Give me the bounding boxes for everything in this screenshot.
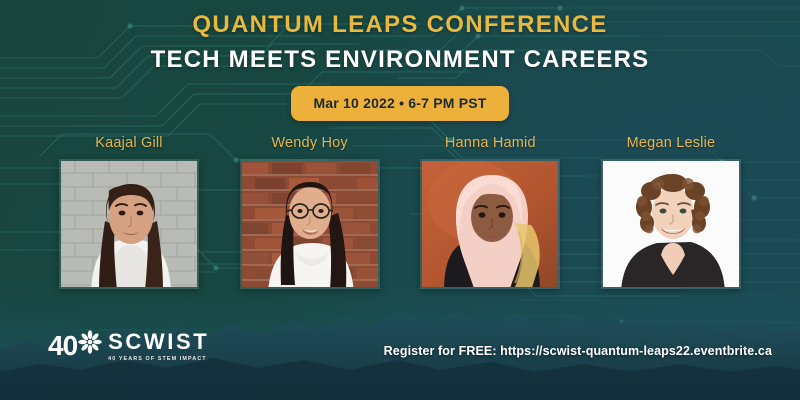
speaker-card: Kaajal Gill [50,136,208,289]
speaker-photo-megan-leslie [601,159,741,289]
flower-icon [78,330,102,354]
speaker-photo-hanna-hamid [420,159,560,289]
speaker-name: Wendy Hoy [231,136,389,151]
date-badge-row: Mar 10 2022 • 6-7 PM PST [0,86,800,121]
event-date-badge: Mar 10 2022 • 6-7 PM PST [291,86,508,121]
speaker-name: Megan Leslie [592,136,750,151]
register-label: Register for FREE: [384,344,497,358]
logo-tagline: 40 YEARS OF STEM IMPACT [108,356,209,362]
speaker-card: Wendy Hoy [231,136,389,289]
logo-anniversary-number: 40 [48,332,77,360]
speaker-card: Hanna Hamid [411,136,569,289]
speaker-card: Megan Leslie [592,136,750,289]
logo-wordmark: SCWIST 40 YEARS OF STEM IMPACT [108,331,209,362]
speaker-name: Hanna Hamid [411,136,569,151]
conference-poster: QUANTUM LEAPS CONFERENCE TECH MEETS ENVI… [0,0,800,400]
speaker-list: Kaajal Gill [50,136,750,289]
logo-name: SCWIST [108,331,209,353]
poster-heading-block: QUANTUM LEAPS CONFERENCE TECH MEETS ENVI… [0,0,800,121]
register-url[interactable]: https://scwist-quantum-leaps22.eventbrit… [500,344,772,358]
speaker-photo-kaajal-gill [59,159,199,289]
page-subtitle: TECH MEETS ENVIRONMENT CAREERS [0,47,800,73]
speaker-name: Kaajal Gill [50,136,208,151]
scwist-logo: 40 SCWIST 40 YEARS OF STEM IMPACT [48,330,209,362]
page-title: QUANTUM LEAPS CONFERENCE [0,12,800,38]
speaker-photo-wendy-hoy [240,159,380,289]
registration-line[interactable]: Register for FREE: https://scwist-quantu… [384,344,772,358]
